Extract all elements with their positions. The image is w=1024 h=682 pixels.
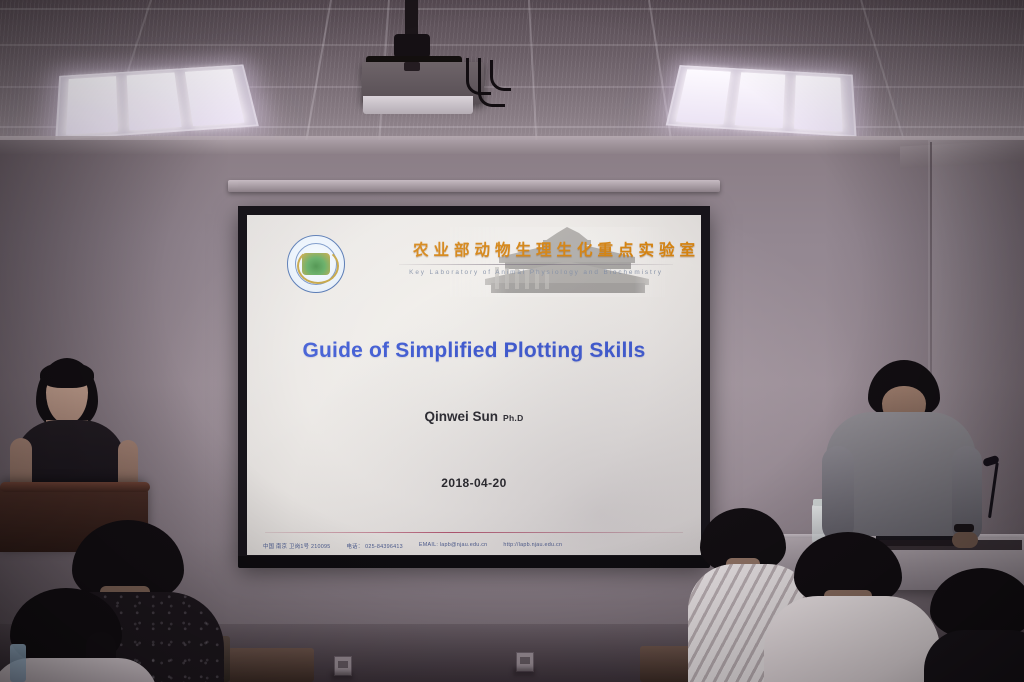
audience-jersey-person: McGRADY 1 — [770, 532, 930, 682]
light-tube — [127, 72, 181, 130]
author-name: Qinwei Sun — [424, 409, 498, 424]
footer-url: http://lapb.njau.edu.cn — [503, 542, 562, 550]
audience-torso — [924, 630, 1024, 682]
slide-banner-rule — [399, 264, 673, 265]
slide-title: Guide of Simplified Plotting Skills — [263, 339, 685, 363]
light-tube — [66, 76, 118, 135]
wall-outlet-shadow — [513, 668, 535, 676]
slide-author: Qinwei SunPh.D — [263, 409, 685, 424]
presentation-slide: 农业部动物生理生化重点实验室 Key Laboratory of Animal … — [247, 215, 701, 555]
projector-lens-panel — [363, 96, 473, 114]
footer-phone: 电话： 025-84396413 — [346, 542, 402, 550]
projector-cable — [490, 60, 511, 91]
projector-mount-pole — [405, 0, 418, 38]
wall-outlet-shadow — [331, 672, 353, 680]
slide-footer: 中国 南京 卫岗1号 210095 电话： 025-84396413 EMAIL… — [263, 542, 685, 550]
audience-table — [228, 648, 314, 682]
light-tube — [185, 69, 244, 126]
foreground-water-bottle — [10, 644, 26, 682]
light-tube — [676, 69, 731, 124]
operator-wristwatch — [954, 524, 974, 532]
footer-address: 中国 南京 卫岗1号 210095 — [263, 542, 330, 550]
projector-mount-head — [394, 34, 430, 58]
screen-bottom-bar — [238, 556, 710, 568]
light-tube — [735, 72, 786, 128]
footer-email: EMAIL: lapb@njau.edu.cn — [419, 542, 487, 550]
slide-banner-english: Key Laboratory of Animal Physiology and … — [399, 269, 673, 276]
slide-footer-rule — [265, 532, 683, 533]
slide-banner-chinese: 农业部动物生理生化重点实验室 — [413, 238, 671, 260]
ceiling-grid-line — [0, 44, 1024, 46]
operator-hand — [952, 532, 978, 548]
audience-jersey-torso: McGRADY 1 — [764, 596, 940, 682]
slide-date: 2018-04-20 — [263, 476, 685, 490]
light-tube — [794, 75, 843, 132]
projection-screen: 农业部动物生理生化重点实验室 Key Laboratory of Animal … — [238, 206, 710, 564]
projector-knob — [404, 62, 420, 71]
laptop-operator-person — [826, 360, 976, 560]
ceiling-light-panel-right — [666, 65, 857, 137]
operator-arm-left — [822, 446, 854, 542]
slide-header: 农业部动物生理生化重点实验室 Key Laboratory of Animal … — [263, 225, 685, 301]
author-degree: Ph.D — [503, 413, 524, 423]
emblem-center — [302, 253, 330, 275]
podium-top — [0, 482, 150, 492]
audience-far-right — [930, 568, 1024, 682]
university-emblem-icon — [287, 235, 345, 293]
screen-roller-housing — [228, 180, 720, 192]
lecture-hall-photo: 农业部动物生理生化重点实验室 Key Laboratory of Animal … — [0, 0, 1024, 682]
ceiling-grid-line — [0, 8, 1024, 10]
presenter-fringe — [40, 362, 94, 388]
